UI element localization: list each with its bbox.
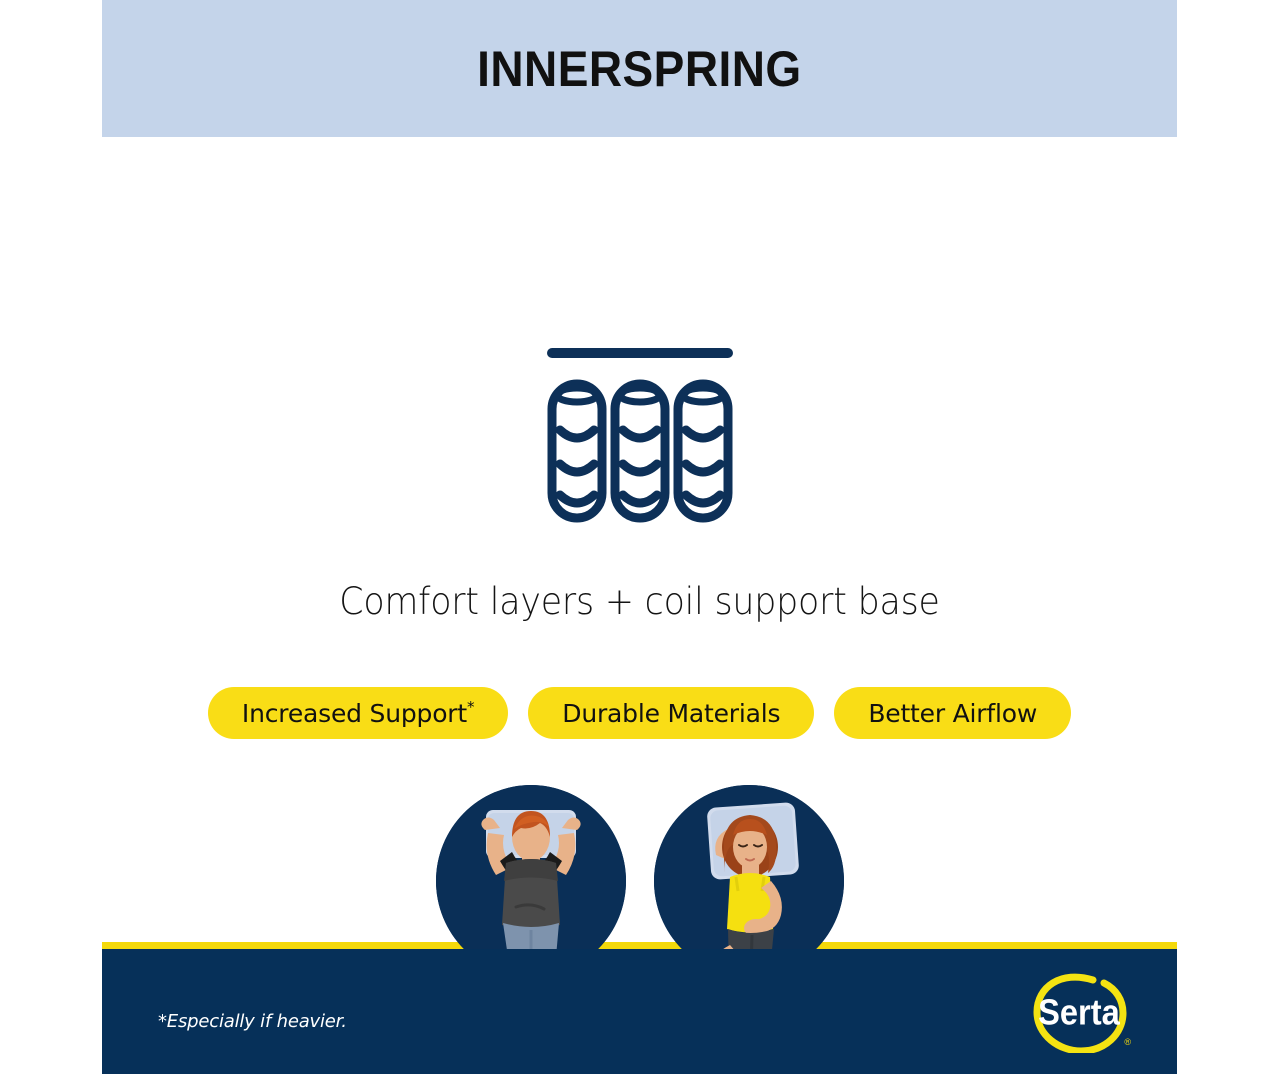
feature-pill-row: Increased Support* Durable Materials Bet… (102, 687, 1177, 739)
feature-pill-label: Increased Support (242, 699, 467, 728)
footer-band: *Especially if heavier. Serta ® (102, 949, 1177, 1074)
feature-pill-increased-support[interactable]: Increased Support* (208, 687, 508, 739)
footnote-text: *Especially if heavier. (158, 1011, 347, 1032)
header-band: INNERSPRING (102, 0, 1177, 137)
innerspring-card: INNERSPRING (102, 0, 1177, 1074)
card-body: Comfort layers + coil support base Incre… (102, 137, 1177, 942)
feature-pill-durable-materials[interactable]: Durable Materials (528, 687, 814, 739)
infographic-page: INNERSPRING (0, 0, 1280, 1074)
feature-pill-label: Better Airflow (868, 699, 1037, 728)
serta-logo-wordmark: Serta (1038, 993, 1121, 1033)
tagline: Comfort layers + coil support base (134, 580, 1145, 623)
registered-trademark-icon: ® (1124, 1037, 1131, 1047)
serta-logo[interactable]: Serta ® (1031, 971, 1127, 1053)
page-title: INNERSPRING (477, 40, 802, 98)
feature-pill-better-airflow[interactable]: Better Airflow (834, 687, 1071, 739)
feature-pill-label: Durable Materials (562, 699, 780, 728)
coil-springs-icon (102, 337, 1177, 527)
